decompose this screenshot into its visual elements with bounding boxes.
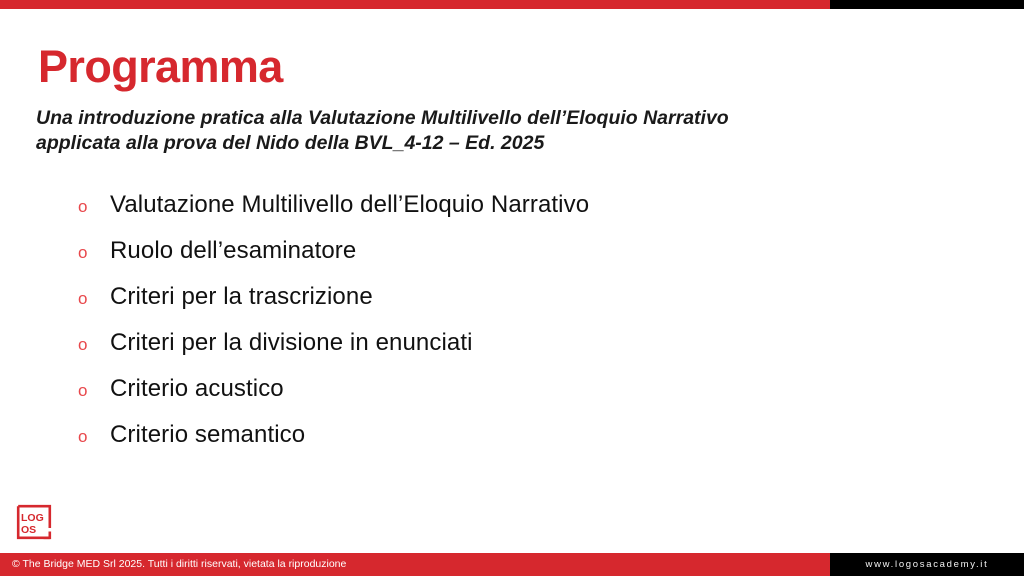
footer: © The Bridge MED Srl 2025. Tutti i dirit…: [0, 553, 1024, 576]
list-item-label: Ruolo dell’esaminatore: [110, 236, 356, 266]
circle-bullet-icon: o: [78, 376, 110, 406]
list-item-label: Criteri per la trascrizione: [110, 282, 373, 312]
list-item: o Criterio semantico: [78, 420, 908, 466]
top-accent-bar-black: [830, 0, 1024, 9]
circle-bullet-icon: o: [78, 238, 110, 268]
footer-website-text: www.logosacademy.it: [866, 553, 989, 576]
list-item: o Criterio acustico: [78, 374, 908, 420]
list-item: o Ruolo dell’esaminatore: [78, 236, 908, 282]
slide: Programma Una introduzione pratica alla …: [0, 0, 1024, 576]
page-subtitle-line-1: Una introduzione pratica alla Valutazion…: [36, 106, 916, 131]
page-title: Programma: [38, 42, 283, 92]
logos-logo-icon: LOG OS: [16, 504, 52, 540]
page-subtitle: Una introduzione pratica alla Valutazion…: [36, 106, 916, 156]
agenda-list: o Valutazione Multilivello dell’Eloquio …: [78, 190, 908, 466]
logo-text-line-2: OS: [21, 524, 36, 536]
footer-website-bar: www.logosacademy.it: [830, 553, 1024, 576]
circle-bullet-icon: o: [78, 330, 110, 360]
list-item-label: Criterio semantico: [110, 420, 305, 450]
list-item: o Criteri per la divisione in enunciati: [78, 328, 908, 374]
top-accent-bar: [0, 0, 1024, 9]
circle-bullet-icon: o: [78, 192, 110, 222]
footer-copyright-text: © The Bridge MED Srl 2025. Tutti i dirit…: [0, 553, 346, 576]
logo-text-line-1: LOG: [21, 512, 44, 524]
page-subtitle-line-2: applicata alla prova del Nido della BVL_…: [36, 131, 916, 156]
list-item: o Criteri per la trascrizione: [78, 282, 908, 328]
top-accent-bar-red: [0, 0, 830, 9]
list-item-label: Criteri per la divisione in enunciati: [110, 328, 473, 358]
footer-copyright-bar: © The Bridge MED Srl 2025. Tutti i dirit…: [0, 553, 830, 576]
list-item: o Valutazione Multilivello dell’Eloquio …: [78, 190, 908, 236]
circle-bullet-icon: o: [78, 422, 110, 452]
list-item-label: Valutazione Multilivello dell’Eloquio Na…: [110, 190, 589, 220]
list-item-label: Criterio acustico: [110, 374, 284, 404]
circle-bullet-icon: o: [78, 284, 110, 314]
